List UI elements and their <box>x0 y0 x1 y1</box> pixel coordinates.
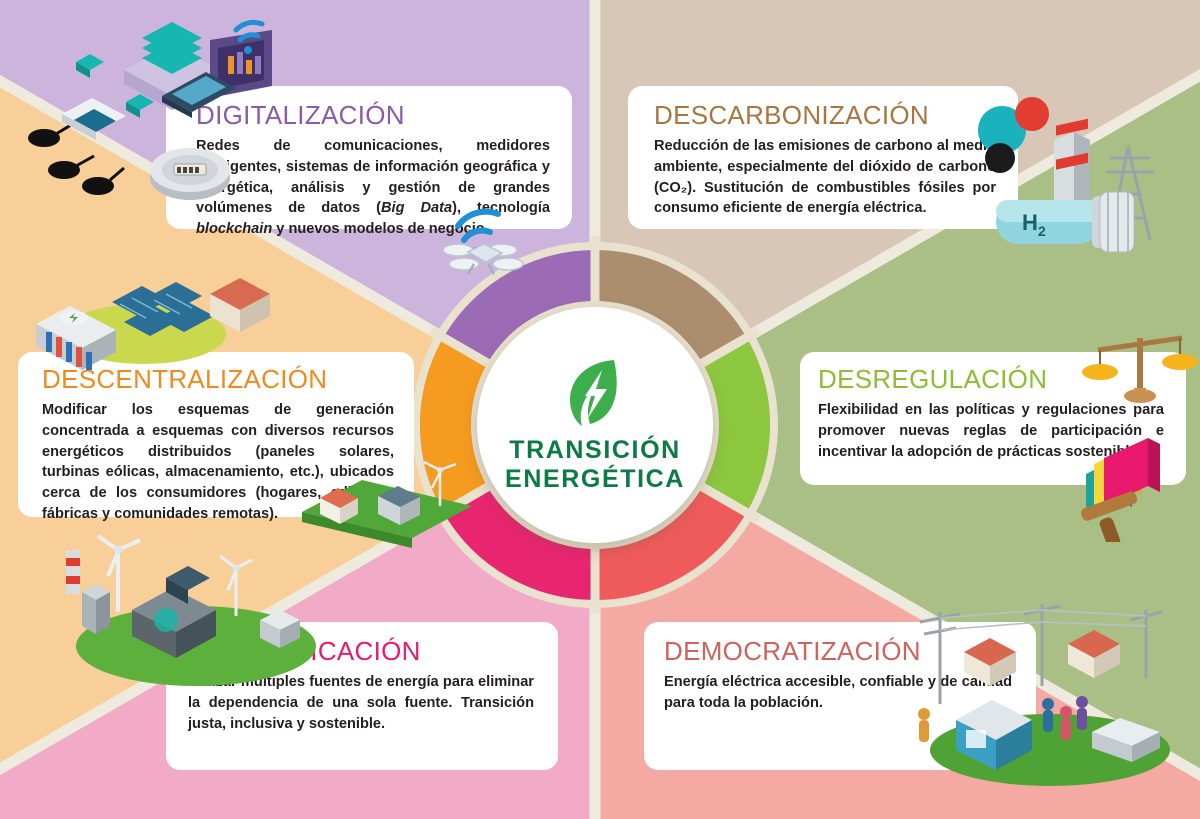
card-body-descentralizacion: Modificar los esquemas de generación con… <box>42 400 394 524</box>
card-democratizacion[interactable]: DEMOCRATIZACIÓN Energía eléctrica accesi… <box>644 622 1036 770</box>
card-diversificacion[interactable]: DIVERSIFICACIÓN Utilizar múltiples fuent… <box>166 622 558 770</box>
card-body-digitalizacion: Redes de comunicaciones, medidores intel… <box>196 136 550 240</box>
center-title: TRANSICIÓN ENERGÉTICA <box>505 436 685 494</box>
card-title-desregulacion: DESREGULACIÓN <box>818 366 1164 393</box>
card-body-diversificacion: Utilizar múltiples fuentes de energía pa… <box>188 672 534 734</box>
card-title-descentralizacion: DESCENTRALIZACIÓN <box>42 366 394 393</box>
card-descarbonizacion[interactable]: DESCARBONIZACIÓN Reducción de las emisio… <box>628 86 1018 229</box>
ring-descentralizacion <box>448 352 468 499</box>
card-descentralizacion[interactable]: DESCENTRALIZACIÓN Modificar los esquemas… <box>18 352 414 517</box>
card-title-digitalizacion: DIGITALIZACIÓN <box>196 102 550 129</box>
green-leaf-lightning-icon <box>564 356 626 428</box>
card-body-democratizacion: Energía eléctrica accesible, confiable y… <box>664 672 1012 713</box>
center-hub: TRANSICIÓN ENERGÉTICA <box>477 307 713 543</box>
infographic-canvas: TRANSICIÓN ENERGÉTICA <box>0 0 1200 819</box>
card-digitalizacion[interactable]: DIGITALIZACIÓN Redes de comunicaciones, … <box>166 86 572 229</box>
ring-desregulacion <box>722 352 742 499</box>
card-body-descarbonizacion: Reducción de las emisiones de carbono al… <box>654 136 996 219</box>
card-title-diversificacion: DIVERSIFICACIÓN <box>188 638 534 665</box>
card-title-descarbonizacion: DESCARBONIZACIÓN <box>654 102 996 129</box>
card-title-democratizacion: DEMOCRATIZACIÓN <box>664 638 1012 665</box>
card-body-desregulacion: Flexibilidad en las políticas y regulaci… <box>818 400 1164 462</box>
card-desregulacion[interactable]: DESREGULACIÓN Flexibilidad en las políti… <box>800 352 1186 485</box>
